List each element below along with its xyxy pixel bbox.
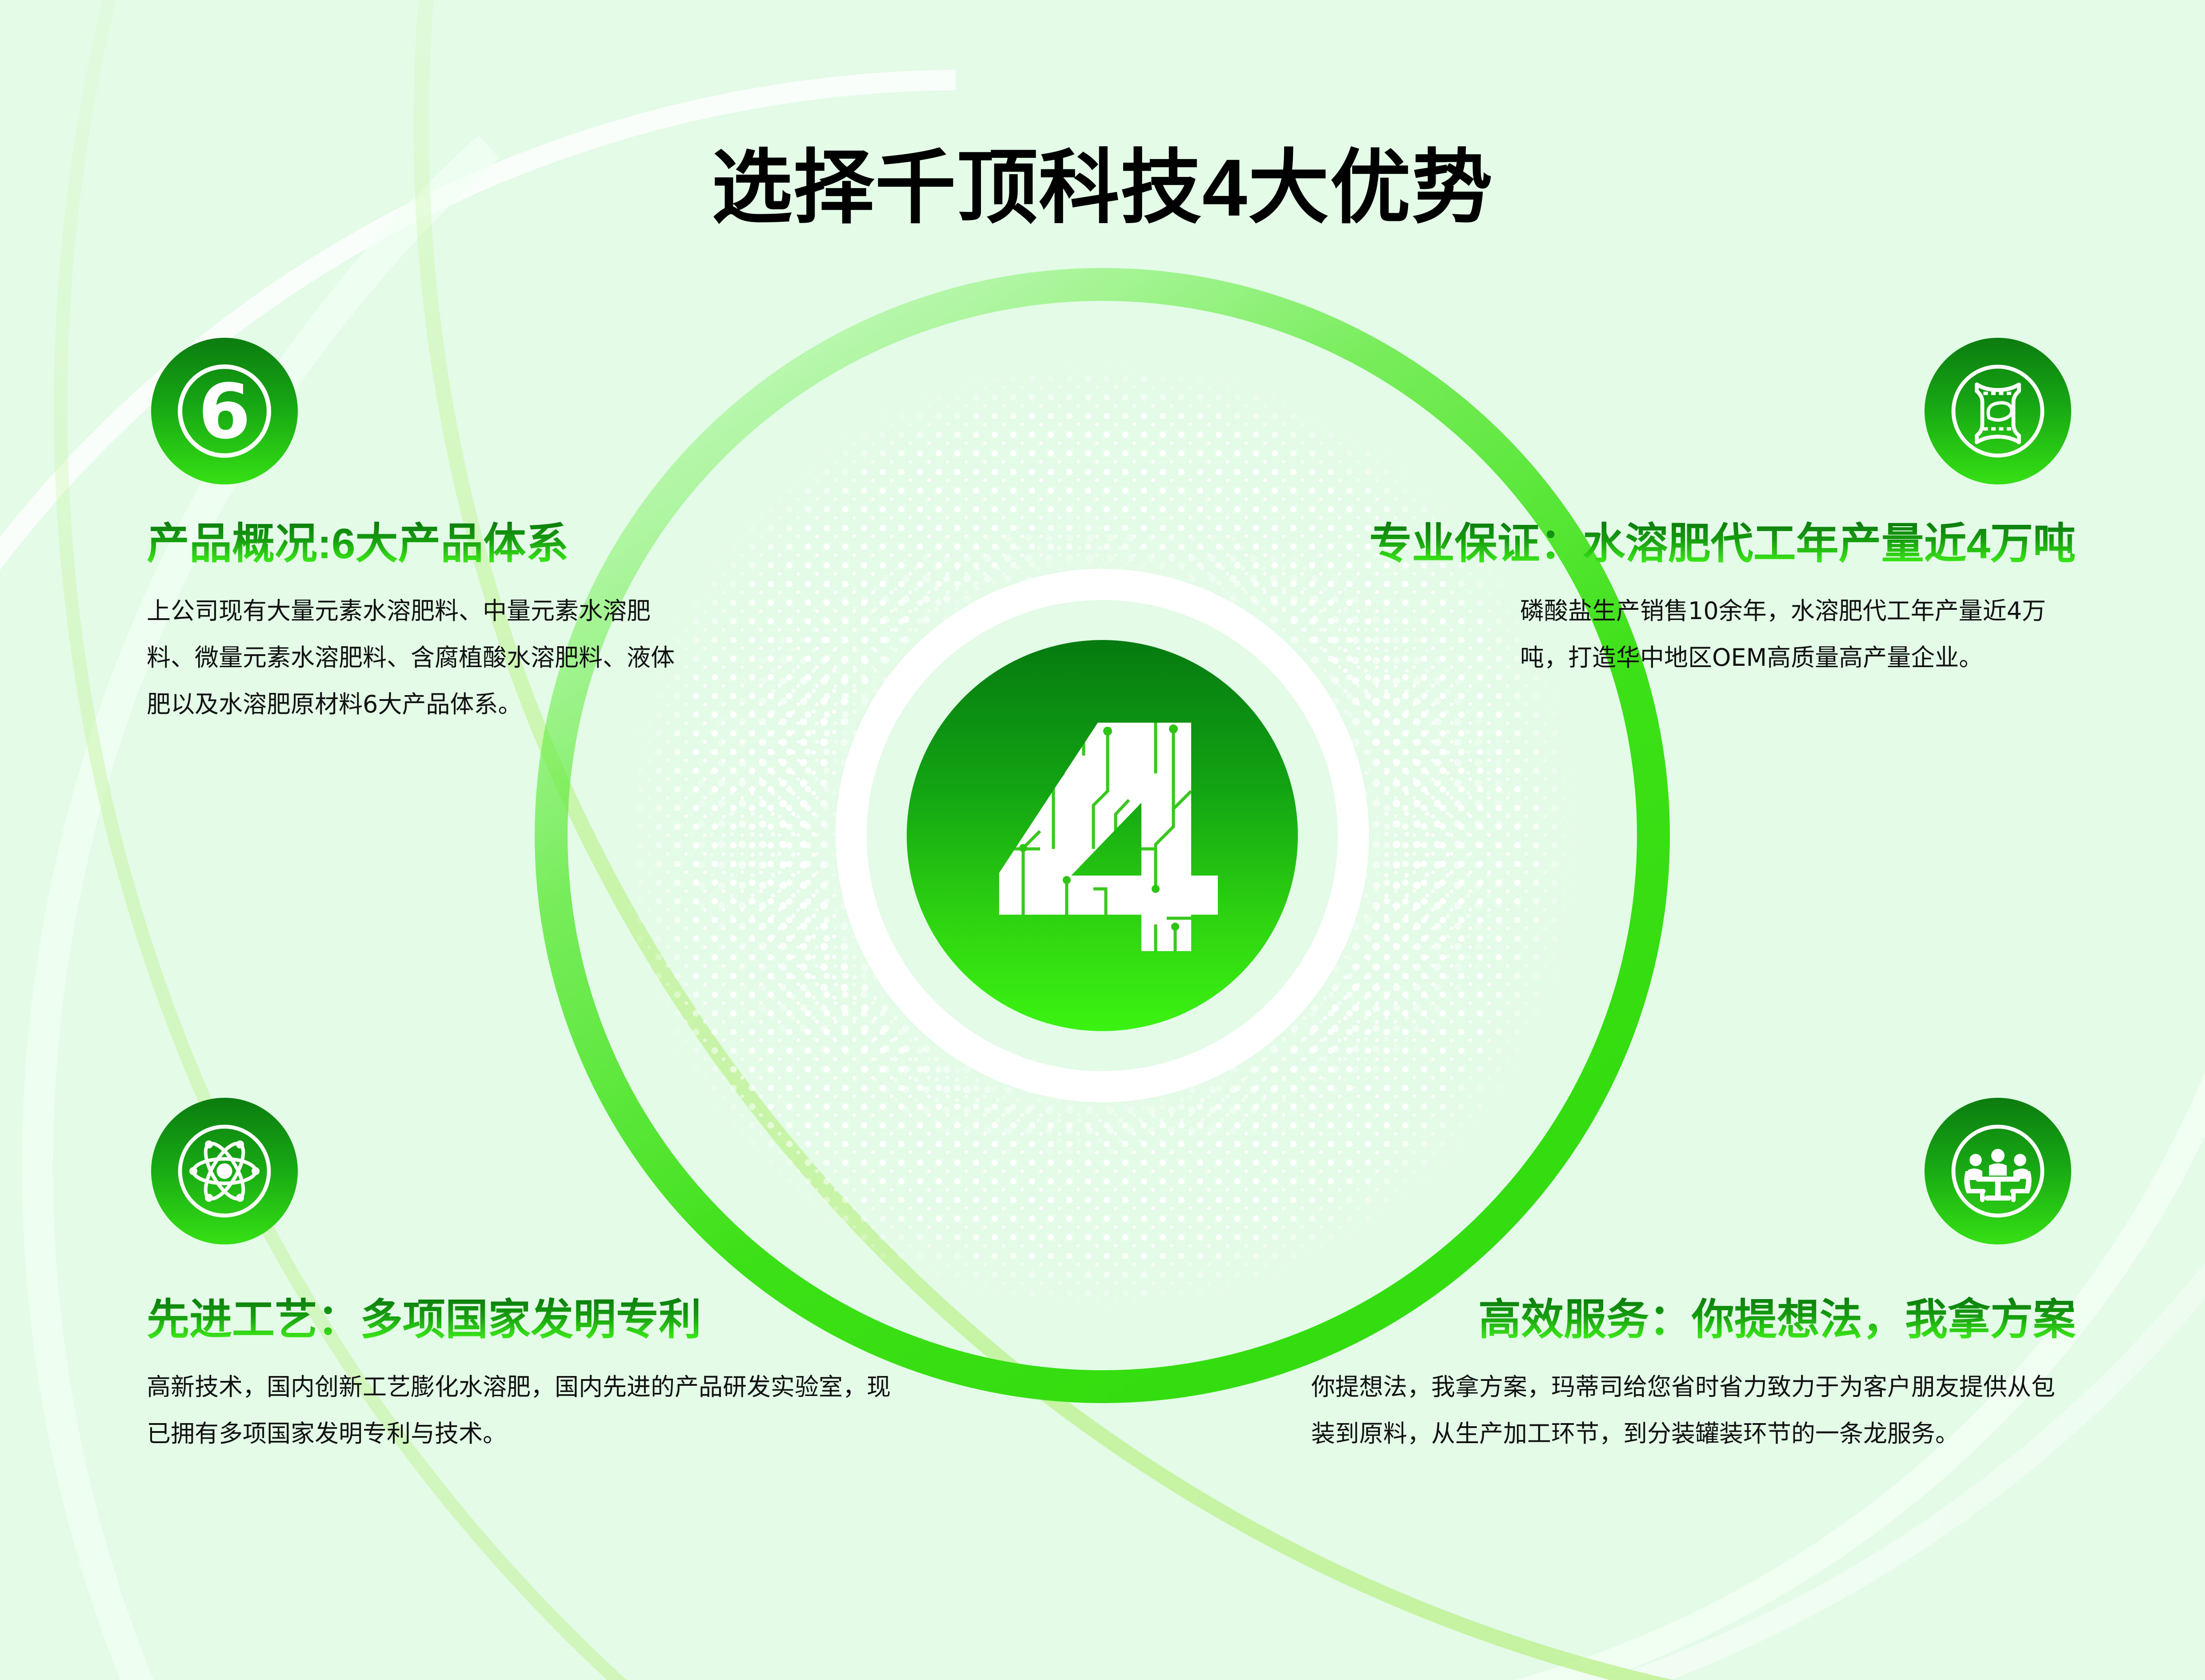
- six-glyph-icon: 6: [169, 356, 280, 467]
- six-product-lines-icon: 6: [151, 338, 298, 484]
- advantage-body: 你提想法，我拿方案，玛蒂司给您省时省力致力于为客户朋友提供从包装到原料，从生产加…: [1311, 1364, 2067, 1457]
- advantage-headline: 产品概况:6大产品体系: [147, 520, 698, 568]
- atom-icon: [151, 1098, 298, 1244]
- advantage-headline: 专业保证：水溶肥代工年产量近4万吨: [1182, 520, 2076, 568]
- infographic-canvas: 选择千顶科技4大优势: [0, 0, 2205, 1680]
- advantage-block-top-left: 6 产品概况:6大产品体系 上公司现有大量元素水溶肥料、中量元素水溶肥料、微量元…: [147, 338, 698, 728]
- advantage-block-bottom-right: 高效服务：你提想法，我拿方案 你提想法，我拿方案，玛蒂司给您省时省力致力于为客户…: [1311, 1098, 2076, 1457]
- meeting-table-icon: [1925, 1098, 2071, 1244]
- badge-row: [1182, 338, 2076, 484]
- advantage-block-top-right: 专业保证：水溶肥代工年产量近4万吨 磷酸盐生产销售10余年，水溶肥代工年产量近4…: [1182, 338, 2076, 681]
- svg-text:6: 6: [198, 368, 251, 456]
- advantage-body: 磷酸盐生产销售10余年，水溶肥代工年产量近4万吨，打造华中地区OEM高质量高产量…: [1520, 588, 2076, 681]
- center-core-circle: 4: [907, 640, 1298, 1031]
- advantage-block-bottom-left: 先进工艺：多项国家发明专利 高新技术，国内创新工艺膨化水溶肥，国内先进的产品研发…: [147, 1098, 911, 1457]
- advantage-body: 高新技术，国内创新工艺膨化水溶肥，国内先进的产品研发实验室，现已拥有多项国家发明…: [147, 1364, 898, 1457]
- page-title: 选择千顶科技4大优势: [0, 143, 2205, 232]
- advantage-body: 上公司现有大量元素水溶肥料、中量元素水溶肥料、微量元素水溶肥料、含腐植酸水溶肥料…: [147, 588, 693, 728]
- fertilizer-bag-glyph-icon: [1942, 356, 2053, 467]
- atom-glyph-icon: [169, 1116, 280, 1227]
- fertilizer-bag-icon: [1925, 338, 2071, 484]
- advantage-headline: 先进工艺：多项国家发明专利: [147, 1296, 911, 1344]
- advantage-headline: 高效服务：你提想法，我拿方案: [1311, 1296, 2076, 1344]
- badge-row: [1311, 1098, 2076, 1244]
- meeting-table-glyph-icon: [1942, 1116, 2053, 1227]
